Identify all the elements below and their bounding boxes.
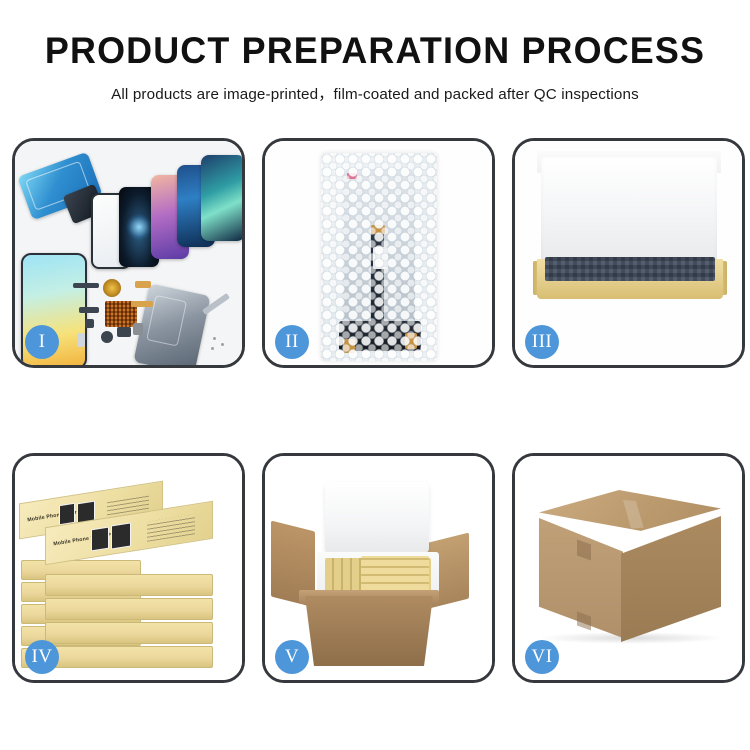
process-step-panel-4[interactable]: Mobile Phone Spare Parts Mobile Phone Sp… [12, 453, 245, 683]
step-badge-6: VI [525, 640, 559, 674]
screw-kit-part [133, 323, 143, 335]
flex-cable-part [135, 281, 151, 288]
step-badge-3: III [525, 325, 559, 359]
bubble-wrap-bag [321, 153, 437, 361]
white-foam-sheet [541, 157, 717, 265]
process-step-panel-3[interactable]: III [512, 138, 745, 368]
carton-front-wall [305, 596, 433, 666]
teal-gradient-phone [201, 155, 242, 241]
camera-module-part [85, 319, 94, 328]
step-badge-2: II [275, 325, 309, 359]
sim-tray-part [117, 327, 131, 337]
process-step-panel-1[interactable]: I [12, 138, 245, 368]
connector-part [79, 307, 99, 313]
page-header: PRODUCT PREPARATION PROCESS All products… [0, 0, 750, 104]
step-badge-5: V [275, 640, 309, 674]
speaker-coil-part [103, 279, 121, 297]
page-title: PRODUCT PREPARATION PROCESS [11, 32, 739, 71]
process-step-panel-5[interactable]: V [262, 453, 495, 683]
earpiece-part [73, 283, 99, 288]
flex-cable-part [131, 301, 153, 307]
process-step-panel-2[interactable]: II [262, 138, 495, 368]
process-step-grid: I II [12, 138, 745, 683]
sim-card-part [77, 333, 85, 347]
step-badge-4: IV [25, 640, 59, 674]
vibration-motor-part [101, 331, 113, 343]
grey-foam-padding [545, 257, 715, 281]
page-subtitle: All products are image-printed，film-coat… [0, 82, 750, 104]
foam-lid [325, 482, 429, 554]
process-step-panel-6[interactable]: VI [512, 453, 745, 683]
step-badge-1: I [25, 325, 59, 359]
